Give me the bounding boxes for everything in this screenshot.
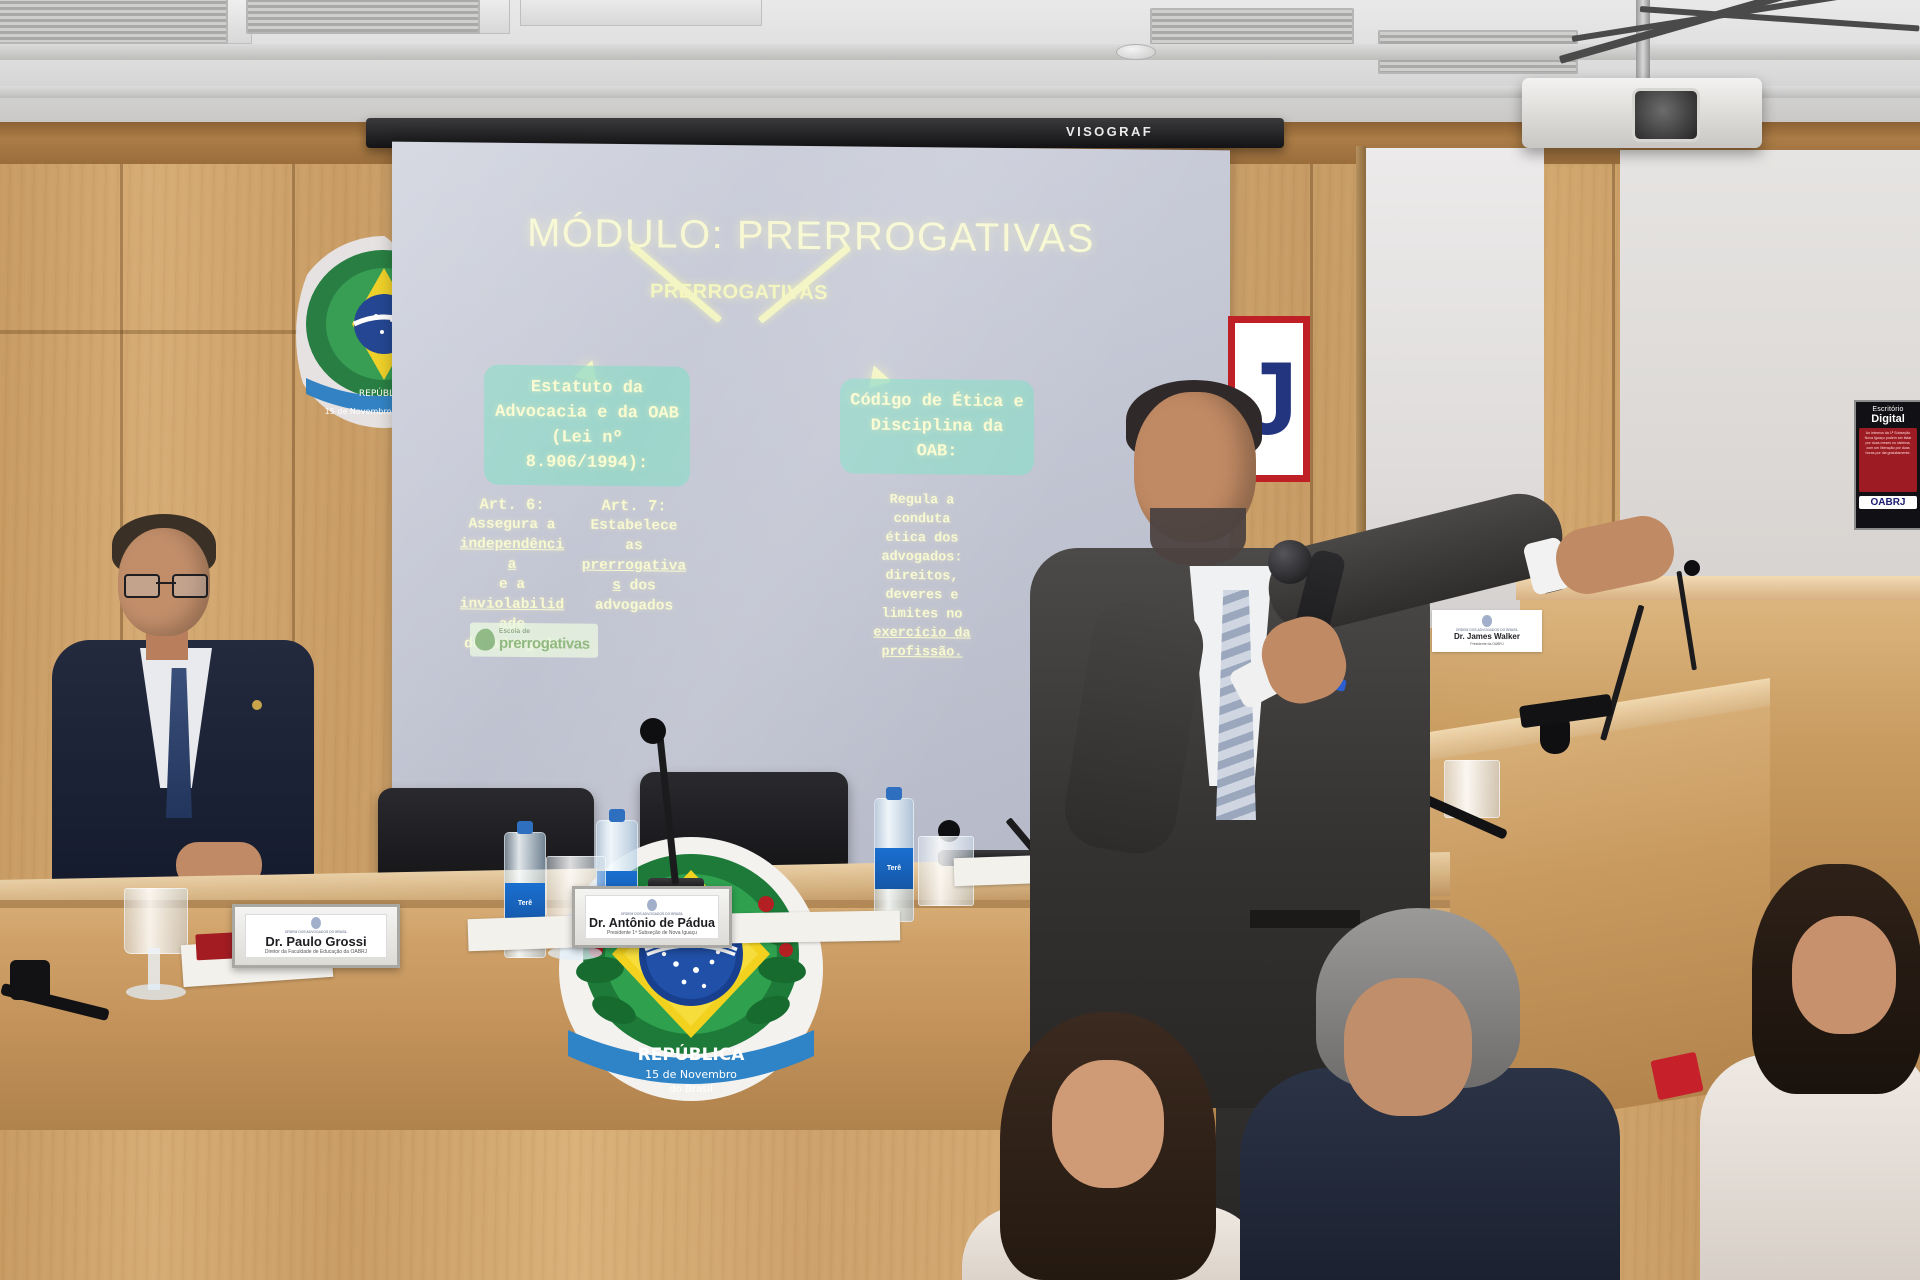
speaker-belt — [1250, 910, 1360, 928]
bottle-cap — [517, 821, 533, 834]
svg-text:do Brasil: do Brasil — [669, 1084, 713, 1095]
escritorio-digital-poster: Escritório Digital Ao internos da 1ª Sub… — [1854, 400, 1920, 530]
water-bottle: Terê — [874, 798, 914, 922]
audience-right-head — [1792, 916, 1896, 1034]
nameplate-paulo-grossi: ORDEM DOS ADVOGADOS DO BRASIL Dr. Paulo … — [232, 904, 400, 968]
projector-lens — [1632, 88, 1700, 142]
nameplate-role: Presidente da OABRJ — [1470, 641, 1503, 647]
paper-sheet — [716, 910, 900, 943]
poster-oabrj-logo: OABRJ — [1859, 496, 1917, 509]
poster-line1: Escritório — [1859, 406, 1917, 413]
nameplate-name: Dr. James Walker — [1454, 632, 1520, 641]
audience-grayhair-head — [1344, 978, 1472, 1116]
ceiling-air-vent — [0, 0, 228, 44]
crest-icon — [647, 899, 657, 911]
ceiling-air-vent — [246, 0, 480, 34]
svg-text:15 de Novembro: 15 de Novembro — [325, 407, 392, 416]
poster-body-text: Ao internos da 1ª Subseção Nova Iguaçu p… — [1859, 428, 1917, 492]
screen-brand-label: VISOGRAF — [1066, 124, 1153, 139]
crest-icon — [311, 917, 321, 929]
cable-connector — [10, 960, 50, 1000]
lapel-pin — [252, 700, 262, 710]
svg-text:15 de Novembro: 15 de Novembro — [645, 1068, 737, 1081]
handheld-microphone-head — [1268, 540, 1312, 584]
crest-icon — [1482, 615, 1492, 626]
glass-foot — [126, 984, 186, 1000]
bottle-cap — [886, 787, 902, 800]
microphone-head — [1684, 560, 1700, 576]
nameplate-antonio-de-padua: ORDEM DOS ADVOGADOS DO BRASIL Dr. Antôni… — [572, 886, 732, 948]
audience-woman-head — [1052, 1060, 1164, 1188]
speaker-beard — [1150, 508, 1246, 566]
eyeglasses-icon — [124, 574, 208, 596]
drinking-glass — [124, 888, 188, 954]
nameplate-name: Dr. Paulo Grossi — [265, 934, 366, 949]
ceiling-panel — [520, 0, 762, 26]
nameplate-role: Diretor da Faculdade de Educação da OABR… — [265, 949, 367, 955]
ceiling-beam — [0, 44, 1920, 60]
svg-text:REPÚBLICA: REPÚBLICA — [638, 1043, 746, 1065]
poster-line2: Digital — [1859, 413, 1917, 425]
ceiling-air-vent — [1150, 8, 1354, 46]
bottle-label: Terê — [875, 848, 913, 889]
nameplate-name: Dr. Antônio de Pádua — [589, 916, 715, 930]
nameplate-role: Presidente 1ª Subseção de Nova Iguaçu — [607, 930, 697, 936]
microphone-head — [640, 718, 666, 744]
bottle-cap — [609, 809, 625, 822]
smoke-detector — [1116, 44, 1156, 60]
wall-seam — [0, 330, 300, 334]
nameplate-james-walker: ORDEM DOS ADVOGADOS DO BRASIL Dr. James … — [1432, 610, 1542, 652]
conference-room-photo: VISOGRAF REPÚBLICA 15 de Novembro MÓDULO… — [0, 0, 1920, 1280]
